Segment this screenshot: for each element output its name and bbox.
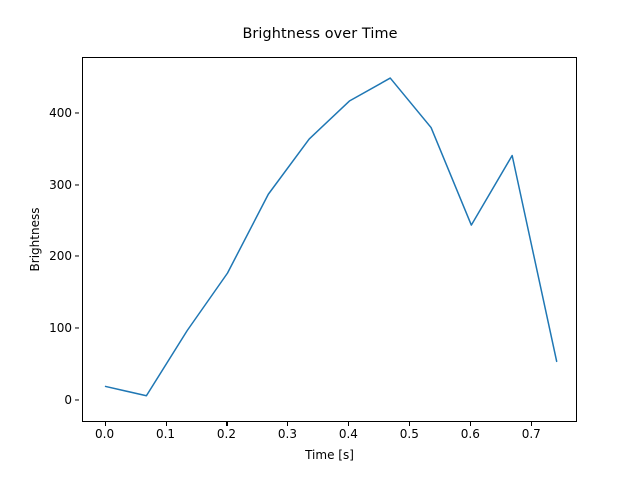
x-tick-label: 0.6	[440, 427, 500, 441]
x-tick-label: 0.0	[75, 427, 135, 441]
x-tick-mark	[166, 422, 167, 426]
x-tick-label: 0.3	[257, 427, 317, 441]
x-tick-mark	[409, 422, 410, 426]
y-tick-label: 300	[12, 178, 72, 192]
x-tick-mark	[287, 422, 288, 426]
x-tick-label: 0.7	[501, 427, 561, 441]
x-tick-mark	[348, 422, 349, 426]
y-tick-label: 200	[12, 249, 72, 263]
y-tick-mark	[75, 112, 79, 113]
y-tick-label: 400	[12, 106, 72, 120]
y-tick-mark	[75, 399, 79, 400]
x-tick-label: 0.4	[318, 427, 378, 441]
y-tick-mark	[75, 184, 79, 185]
chart-figure: Brightness over Time 0100200300400 0.00.…	[0, 0, 640, 480]
x-axis-label: Time [s]	[82, 448, 577, 462]
x-tick-mark	[226, 422, 227, 426]
x-tick-mark	[105, 422, 106, 426]
x-tick-label: 0.1	[136, 427, 196, 441]
y-tick-label: 0	[12, 393, 72, 407]
x-tick-mark	[470, 422, 471, 426]
line-series-svg	[83, 58, 578, 423]
chart-title: Brightness over Time	[0, 26, 640, 42]
brightness-line	[106, 78, 557, 396]
y-axis-label: Brightness	[28, 57, 42, 422]
plot-axes	[82, 57, 577, 422]
x-tick-label: 0.5	[379, 427, 439, 441]
x-tick-label: 0.2	[196, 427, 256, 441]
y-tick-mark	[75, 256, 79, 257]
x-tick-mark	[531, 422, 532, 426]
y-tick-mark	[75, 328, 79, 329]
y-tick-label: 100	[12, 321, 72, 335]
